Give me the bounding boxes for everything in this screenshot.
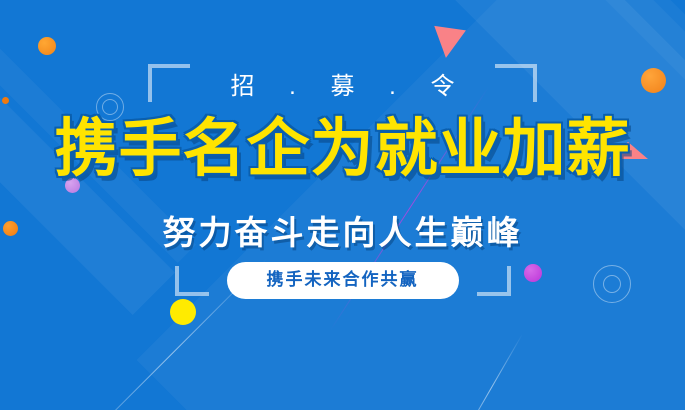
subtitle-text: 努力奋斗走向人生巅峰 xyxy=(0,206,685,254)
corner-bracket-top-left-icon xyxy=(148,64,190,102)
corner-bracket-top-right-icon xyxy=(495,64,537,102)
eyebrow-row: 招 . 募 . 令 xyxy=(0,64,685,102)
eyebrow-label: 招 . 募 . 令 xyxy=(190,66,494,101)
cta-row: 携手未来合作共赢 xyxy=(0,262,685,299)
recruitment-banner: 招 . 募 . 令 携手名企为就业加薪 努力奋斗走向人生巅峰 携手未来合作共赢 xyxy=(0,0,685,410)
corner-bracket-bottom-right-icon xyxy=(477,266,511,296)
headline-title: 携手名企为就业加薪 xyxy=(0,118,685,181)
banner-content: 招 . 募 . 令 携手名企为就业加薪 努力奋斗走向人生巅峰 携手未来合作共赢 xyxy=(0,0,685,410)
cta-button[interactable]: 携手未来合作共赢 xyxy=(227,262,459,299)
corner-bracket-bottom-left-icon xyxy=(175,266,209,296)
